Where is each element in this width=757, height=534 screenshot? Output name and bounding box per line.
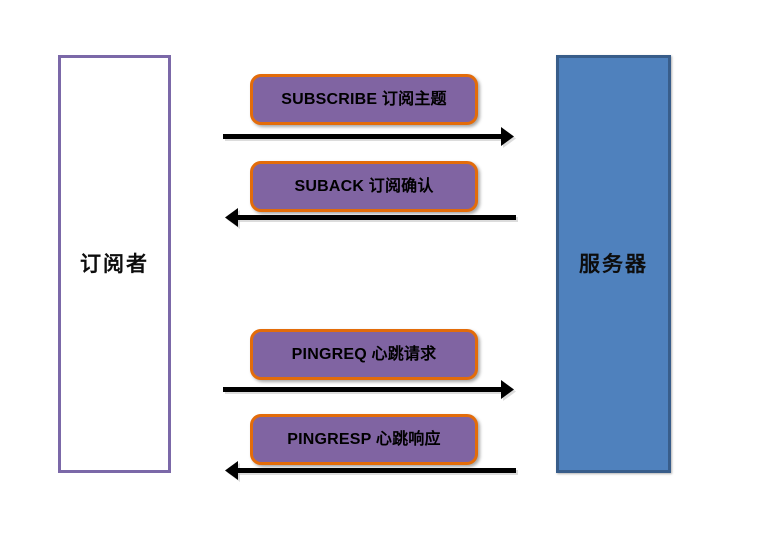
message-label-suback: SUBACK 订阅确认 [294, 179, 433, 195]
participant-label-server: 服务器 [579, 251, 648, 276]
message-arrow-subscribe-right[interactable] [218, 126, 520, 150]
message-label-pingresp: PINGRESP 心跳响应 [287, 432, 440, 448]
message-label-subscribe: SUBSCRIBE 订阅主题 [281, 92, 446, 108]
message-chip-subscribe[interactable]: SUBSCRIBE 订阅主题 [250, 74, 478, 125]
message-arrow-pingreq-right[interactable] [218, 379, 520, 403]
message-label-pingreq: PINGREQ 心跳请求 [292, 347, 437, 363]
participant-label-subscriber: 订阅者 [80, 251, 149, 276]
participant-box-server[interactable]: 服务器 [556, 55, 671, 473]
participant-box-subscriber[interactable]: 订阅者 [58, 55, 171, 473]
message-chip-suback[interactable]: SUBACK 订阅确认 [250, 161, 478, 212]
message-chip-pingresp[interactable]: PINGRESP 心跳响应 [250, 414, 478, 465]
message-arrow-pingresp-left[interactable] [218, 460, 520, 484]
message-arrow-suback-left[interactable] [218, 207, 520, 231]
sequence-diagram: 订阅者 服务器 SUBSCRIBE 订阅主题 SUBACK 订阅确认 [0, 0, 757, 534]
message-chip-pingreq[interactable]: PINGREQ 心跳请求 [250, 329, 478, 380]
